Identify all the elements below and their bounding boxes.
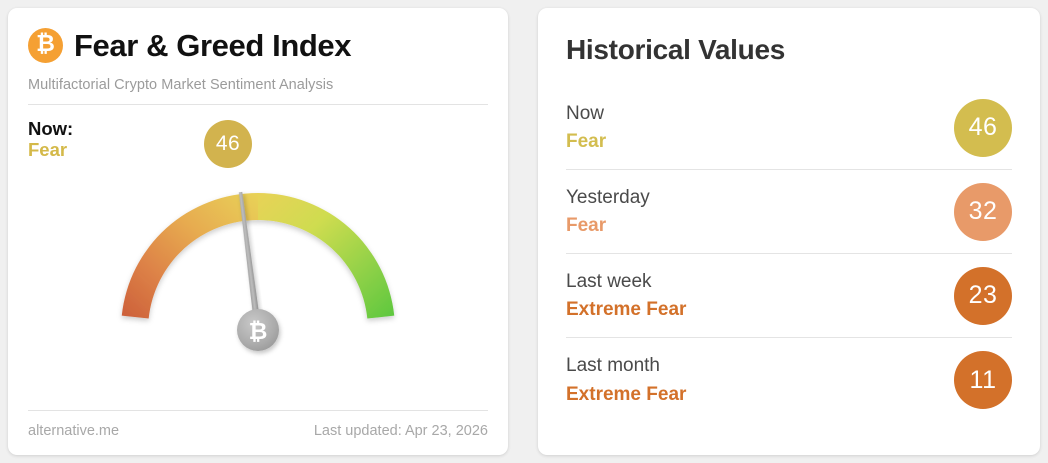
page-root: ₿ Fear & Greed Index Multifactorial Cryp… <box>0 0 1048 463</box>
history-row-text: NowFear <box>566 101 606 154</box>
gauge-card-body: ₿ Fear & Greed Index Multifactorial Cryp… <box>8 8 508 455</box>
gauge-arc <box>122 193 395 319</box>
history-row-period: Last week <box>566 269 686 294</box>
history-row-value-badge: 11 <box>954 351 1012 409</box>
history-row-classification: Fear <box>566 213 650 238</box>
gauge-hub: ₿ <box>237 309 279 351</box>
footer-divider <box>28 410 488 411</box>
history-row: NowFear46 <box>566 86 1012 170</box>
source-link[interactable]: alternative.me <box>28 423 119 439</box>
bitcoin-icon: ₿ <box>28 28 63 63</box>
history-row-classification: Extreme Fear <box>566 382 686 407</box>
historical-values-card: Historical Values NowFear46YesterdayFear… <box>538 8 1040 455</box>
gauge-arc-left <box>122 193 258 319</box>
now-block: Now: Fear <box>28 119 73 160</box>
gauge-title-row: ₿ Fear & Greed Index <box>28 22 488 68</box>
page-title: Fear & Greed Index <box>74 30 351 61</box>
now-classification: Fear <box>28 140 73 161</box>
gauge-arc-right <box>258 193 394 319</box>
last-updated-text: Last updated: Apr 23, 2026 <box>314 423 488 439</box>
now-label: Now: <box>28 119 73 140</box>
history-row-period: Now <box>566 101 606 126</box>
gauge-chart: ₿ <box>86 158 431 408</box>
history-row-classification: Fear <box>566 129 606 154</box>
gauge-svg: ₿ <box>86 158 431 408</box>
history-row-period: Last month <box>566 353 686 378</box>
history-row: YesterdayFear32 <box>566 170 1012 254</box>
bitcoin-icon-glyph: ₿ <box>36 33 55 56</box>
gauge-value-bubble-text: 46 <box>216 132 240 156</box>
history-row-value-badge: 32 <box>954 183 1012 241</box>
history-row-text: Last monthExtreme Fear <box>566 353 686 406</box>
history-row-value-badge: 46 <box>954 99 1012 157</box>
page-subtitle: Multifactorial Crypto Market Sentiment A… <box>28 77 488 93</box>
gauge-footer: alternative.me Last updated: Apr 23, 202… <box>28 410 488 439</box>
history-row: Last weekExtreme Fear23 <box>566 254 1012 338</box>
history-row-text: YesterdayFear <box>566 185 650 238</box>
history-row-text: Last weekExtreme Fear <box>566 269 686 322</box>
header-divider <box>28 104 488 105</box>
history-row-classification: Extreme Fear <box>566 297 686 322</box>
history-list: NowFear46YesterdayFear32Last weekExtreme… <box>566 86 1012 422</box>
history-card-body: Historical Values NowFear46YesterdayFear… <box>538 8 1040 455</box>
history-row-period: Yesterday <box>566 185 650 210</box>
fear-greed-gauge-card: ₿ Fear & Greed Index Multifactorial Cryp… <box>8 8 508 455</box>
history-row: Last monthExtreme Fear11 <box>566 338 1012 422</box>
gauge-hub-bitcoin-icon: ₿ <box>249 319 268 345</box>
history-title: Historical Values <box>566 34 1012 66</box>
history-row-value-badge: 23 <box>954 267 1012 325</box>
